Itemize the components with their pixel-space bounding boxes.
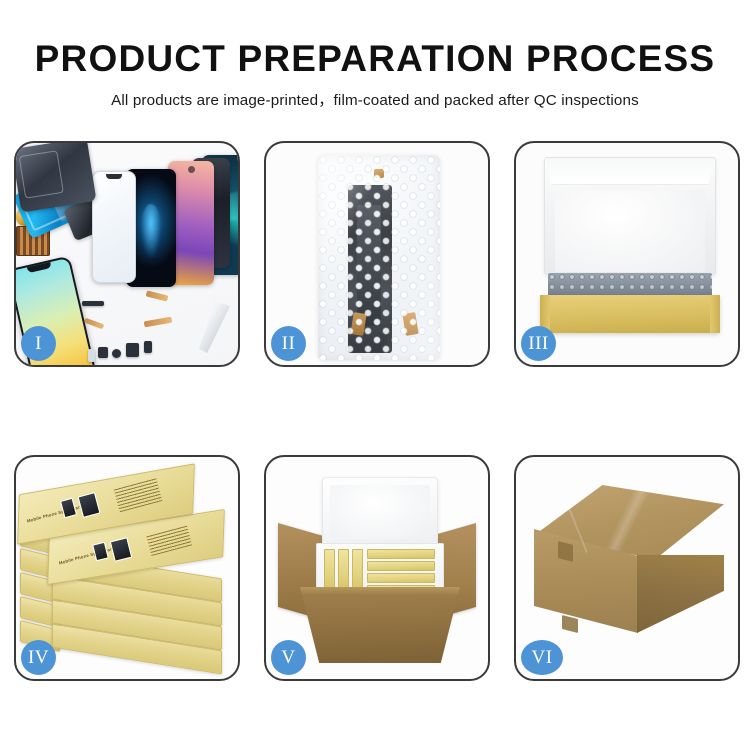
part-graphic [82,301,104,306]
yellow-box [352,549,363,593]
plastic-sheen-graphic [318,155,440,360]
tape-strip-graphic [562,615,578,633]
process-step-card-5: V [264,455,490,681]
part-graphic [88,349,95,362]
outer-carton-graphic [300,587,460,663]
step-badge-1: I [21,326,56,361]
part-graphic [112,349,121,358]
process-step-card-2: II [264,141,490,367]
process-step-card-6: VI [514,455,740,681]
step-badge-5: V [271,640,306,675]
process-step-grid: I II III [14,141,736,681]
yellow-box [324,549,335,593]
flex-cable-graphic [146,290,169,301]
bubble-bag-graphic [318,155,440,360]
carton-side-face-graphic [637,555,724,633]
step-badge-6: VI [521,640,563,675]
process-step-card-3: III [514,141,740,367]
part-graphic [144,341,152,353]
step-badge-4: IV [21,640,56,675]
process-step-card-1: I [14,141,240,367]
part-graphic [98,347,108,358]
foam-cooler-lid-graphic [322,477,438,547]
flex-cable-graphic [84,318,105,330]
step-badge-2: II [271,326,306,361]
part-graphic [126,343,139,357]
yellow-box [338,549,349,593]
tape-strip-graphic [558,541,573,562]
flex-cable-graphic [144,317,173,328]
page-title: PRODUCT PREPARATION PROCESS [0,38,750,79]
process-step-card-4: Mobile Phone Spare Parts Mobile Phone Sp… [14,455,240,681]
yellow-box [367,573,435,583]
foam-lid-graphic [544,157,716,275]
yellow-box [367,561,435,571]
page-subtitle: All products are image-printed，film-coat… [0,88,750,110]
screen-protector-graphic [92,171,136,283]
step-badge-3: III [521,326,556,361]
yellow-box [367,549,435,559]
phone-rear-housing-graphic [16,143,97,213]
header: PRODUCT PREPARATION PROCESS All products… [0,38,750,110]
tweezers-graphic [192,301,230,353]
kraft-inner-box-graphic [540,295,720,333]
product-preparation-infographic: PRODUCT PREPARATION PROCESS All products… [0,0,750,750]
